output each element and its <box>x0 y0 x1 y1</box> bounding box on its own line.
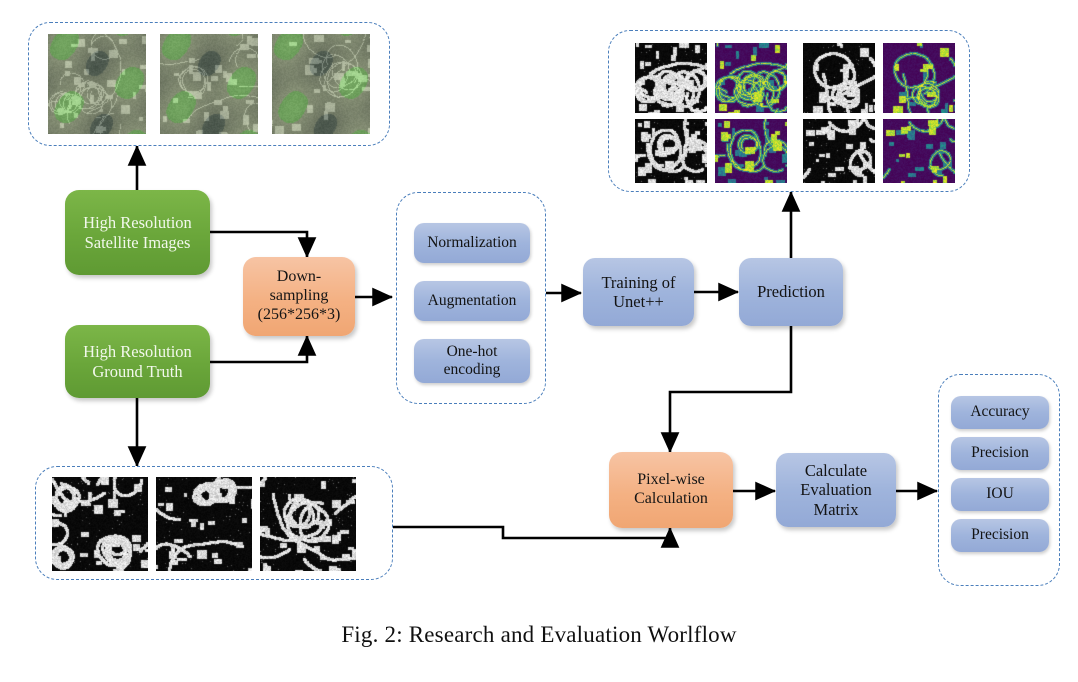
node-high-resolution-satellite-images[interactable]: High Resolution Satellite Images <box>65 190 210 275</box>
prediction-outputs-group <box>608 30 970 192</box>
prediction-overlay-thumbnail <box>883 43 955 113</box>
evaluation-metrics-group: Accuracy Precision IOU Precision <box>938 374 1060 586</box>
node-pixel-wise-calculation[interactable]: Pixel-wise Calculation <box>609 452 733 528</box>
edge-prediction-to-pixelwise <box>670 325 791 452</box>
metric-precision-2[interactable]: Precision <box>951 519 1049 552</box>
ground-truth-samples-group <box>35 466 393 580</box>
preprocessing-step-one-hot-encoding[interactable]: One-hot encoding <box>414 339 530 383</box>
edge-ground-truth-to-downsampling <box>210 336 307 362</box>
figure-canvas: Normalization Augmentation One-hot encod… <box>0 0 1078 682</box>
satellite-samples-group <box>28 22 390 146</box>
node-high-resolution-ground-truth[interactable]: High Resolution Ground Truth <box>65 325 210 398</box>
satellite-thumbnail <box>48 34 146 134</box>
node-calculate-evaluation-matrix[interactable]: Calculate Evaluation Matrix <box>776 453 896 527</box>
node-training-of-unet[interactable]: Training of Unet++ <box>583 258 694 326</box>
prediction-overlay-thumbnail <box>883 119 955 183</box>
node-down-sampling[interactable]: Down- sampling (256*256*3) <box>243 257 355 336</box>
prediction-overlay-thumbnail <box>715 43 787 113</box>
satellite-thumbnail <box>272 34 370 134</box>
metric-iou[interactable]: IOU <box>951 478 1049 511</box>
ground-truth-thumbnail <box>156 477 252 571</box>
prediction-overlay-thumbnail <box>715 119 787 183</box>
prediction-mask-thumbnail <box>635 43 707 113</box>
preprocessing-step-normalization[interactable]: Normalization <box>414 223 530 263</box>
node-prediction[interactable]: Prediction <box>739 258 843 326</box>
preprocessing-step-augmentation[interactable]: Augmentation <box>414 281 530 321</box>
metric-accuracy[interactable]: Accuracy <box>951 396 1049 429</box>
satellite-thumbnail <box>160 34 258 134</box>
ground-truth-thumbnail <box>52 477 148 571</box>
metric-precision[interactable]: Precision <box>951 437 1049 470</box>
ground-truth-thumbnail <box>260 477 356 571</box>
figure-caption: Fig. 2: Research and Evaluation Worlflow <box>0 622 1078 648</box>
edge-satellite-images-to-downsampling <box>210 232 307 257</box>
prediction-mask-thumbnail <box>803 43 875 113</box>
prediction-mask-thumbnail <box>803 119 875 183</box>
edge-ground-truth-samples-to-pixelwise <box>393 527 670 538</box>
preprocessing-group: Normalization Augmentation One-hot encod… <box>396 192 546 404</box>
prediction-mask-thumbnail <box>635 119 707 183</box>
